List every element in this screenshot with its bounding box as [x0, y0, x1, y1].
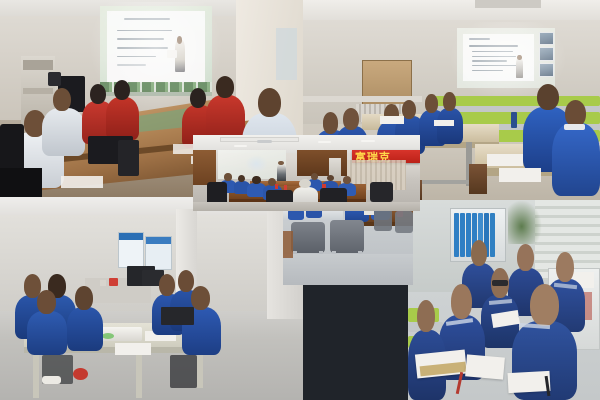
notice-board-blue: [118, 232, 144, 269]
inset-boardroom-meeting[interactable]: 富瑞克: [193, 135, 420, 211]
eyeglasses: [492, 280, 507, 286]
ceiling-projector: [257, 140, 273, 144]
photo-bottom-left[interactable]: [0, 197, 303, 400]
office-chair: [330, 220, 364, 252]
photo-collage: 富瑞克: [0, 0, 600, 400]
notice-board-white: [145, 236, 171, 270]
photo-bottom-right[interactable]: [408, 200, 600, 400]
office-chair: [291, 222, 325, 253]
